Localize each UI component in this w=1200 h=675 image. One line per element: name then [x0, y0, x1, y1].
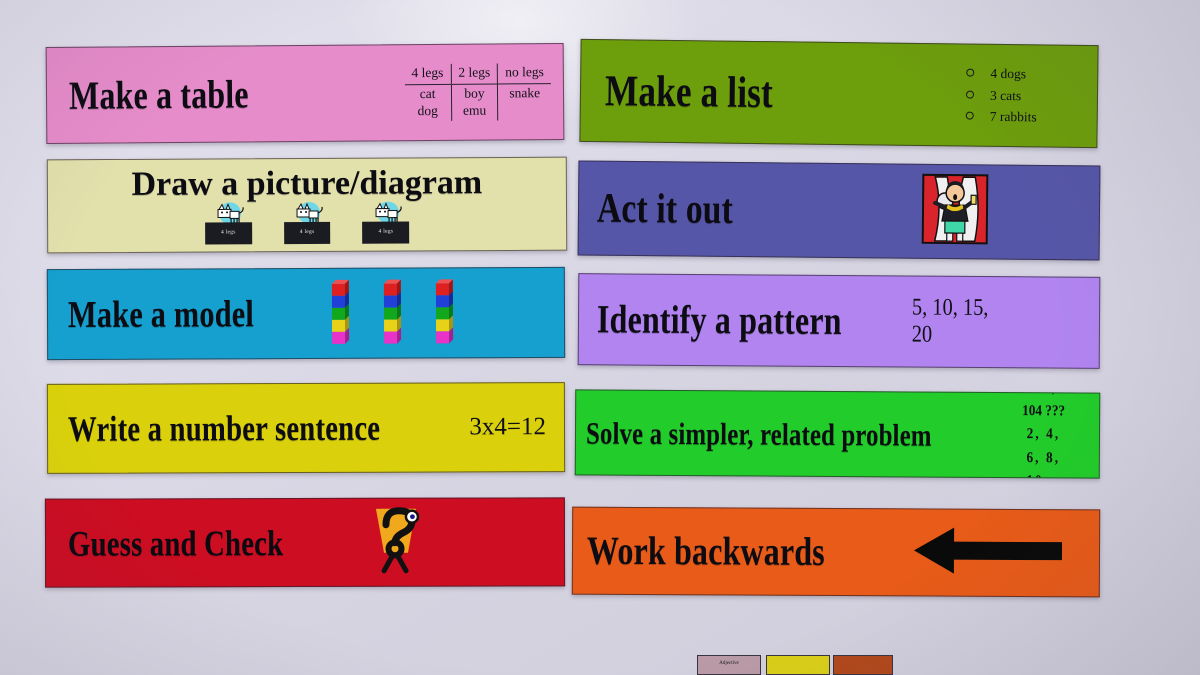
card-title: Solve a simpler, related problem — [586, 417, 932, 450]
cat-clipart-item: 4 legs — [362, 200, 409, 243]
equation-example-text: 3x4=12 — [469, 413, 546, 441]
card-write-a-number-sentence[interactable]: Write a number sentence 3x4=12 — [47, 382, 565, 474]
table-header-cell: 4 legs — [404, 64, 451, 85]
question-mark-character-icon — [366, 503, 424, 577]
card-title: Act it out — [597, 187, 733, 230]
list-item: 3 cats — [964, 84, 1037, 107]
table-cell-line: snake — [505, 85, 544, 102]
table-cell-line: dog — [412, 103, 444, 120]
card-title: Work backwards — [587, 531, 825, 572]
list-item: 7 rabbits — [964, 106, 1037, 129]
card-identify-a-pattern[interactable]: Identify a pattern 5, 10, 15, 20 — [578, 273, 1101, 369]
card-title: Make a list — [605, 69, 774, 115]
card-draw-a-picture-diagram[interactable]: Draw a picture/diagram 4 legs — [47, 157, 567, 254]
card-work-backwards[interactable]: Work backwards — [572, 507, 1100, 598]
cat-clipart-item: 4 legs — [284, 200, 331, 243]
table-cell-line: boy — [458, 86, 490, 103]
actor-on-stage-icon — [921, 173, 990, 246]
actor-stage-clipart — [921, 173, 990, 251]
cat-clipart-item: 4 legs — [205, 201, 252, 244]
cube-tower-icon — [328, 277, 352, 349]
arrow-left-icon — [914, 525, 1062, 576]
cat-label: 4 legs — [362, 221, 409, 243]
sequence-example: 102, 104 ??? 2, 4, 6, 8, 10... — [1021, 389, 1067, 478]
cube-tower-icon — [380, 277, 404, 349]
card-make-a-table[interactable]: Make a table 4 legs 2 legs no legs cat d… — [46, 43, 565, 144]
table-cell-line: cat — [412, 86, 444, 103]
cube-tower-icon — [432, 277, 456, 349]
card-title: Make a model — [68, 295, 254, 334]
table-cell: boy emu — [451, 84, 498, 121]
bottom-peek-card[interactable]: Adjective — [697, 655, 761, 675]
left-arrow-graphic — [914, 525, 1062, 581]
mini-table-example: 4 legs 2 legs no legs cat dog boy emu sn… — [404, 63, 551, 121]
card-title: Draw a picture/diagram — [131, 166, 482, 202]
table-cell: snake — [498, 84, 551, 121]
list-item: 4 dogs — [964, 62, 1037, 85]
sequence-line-2: 2, 4, 6, 8, 10... — [1021, 423, 1066, 478]
sequence-line-1: 102, 104 ??? — [1021, 389, 1066, 423]
card-make-a-list[interactable]: Make a list 4 dogs 3 cats 7 rabbits — [579, 39, 1098, 148]
table-cell-line: emu — [459, 103, 491, 120]
bottom-peek-card[interactable] — [766, 655, 830, 675]
card-act-it-out[interactable]: Act it out — [578, 160, 1101, 260]
card-title: Write a number sentence — [68, 410, 380, 447]
strategy-card-grid: Make a table 4 legs 2 legs no legs cat d… — [0, 0, 1200, 675]
card-title: Identify a pattern — [597, 299, 842, 341]
card-solve-a-simpler-related-problem[interactable]: Solve a simpler, related problem 102, 10… — [575, 389, 1101, 478]
table-header-cell: no legs — [498, 63, 551, 84]
bulleted-list-example: 4 dogs 3 cats 7 rabbits — [964, 62, 1038, 128]
card-guess-and-check[interactable]: Guess and Check — [45, 497, 565, 587]
card-title: Make a table — [69, 74, 249, 115]
table-header-cell: 2 legs — [451, 64, 498, 85]
cat-label: 4 legs — [205, 222, 252, 244]
table-cell: cat dog — [405, 84, 452, 121]
cat-clipart-group: 4 legs 4 legs — [48, 199, 566, 245]
card-make-a-model[interactable]: Make a model — [47, 267, 565, 360]
question-mark-clipart — [366, 503, 424, 582]
card-title: Guess and Check — [68, 525, 283, 562]
bottom-peek-card[interactable] — [833, 655, 893, 675]
cat-label: 4 legs — [284, 221, 331, 243]
pattern-example-text: 5, 10, 15, 20 — [911, 295, 1012, 350]
bottom-peek-label: Adjective — [698, 661, 760, 666]
cube-tower-group — [328, 277, 456, 350]
